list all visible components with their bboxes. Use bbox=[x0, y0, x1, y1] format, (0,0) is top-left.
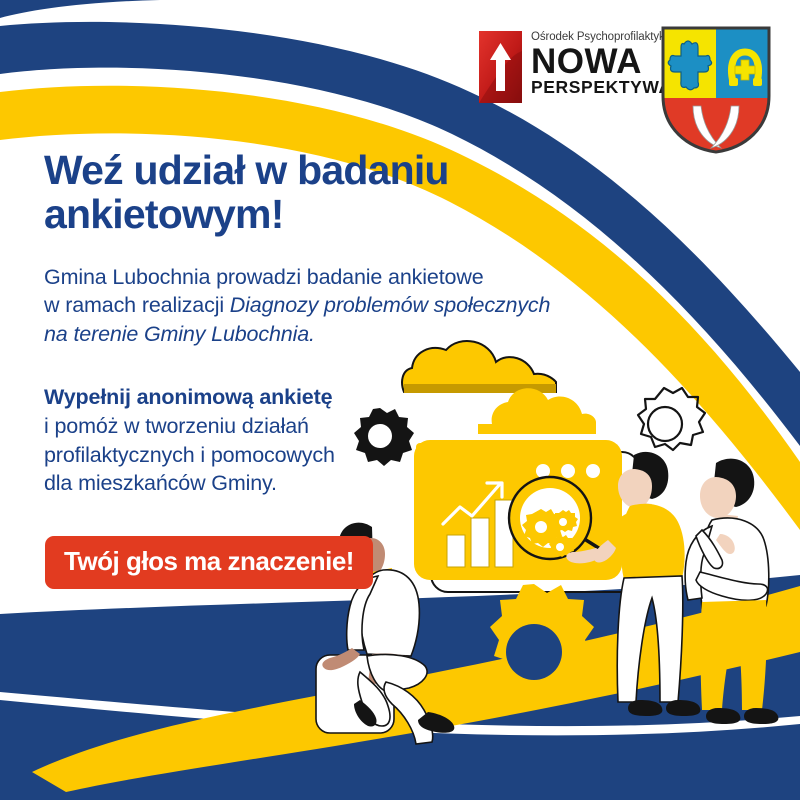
outline-gear-icon bbox=[638, 388, 705, 450]
thinking-person-figure bbox=[685, 459, 778, 724]
status-badge: Twój głos ma znaczenie! bbox=[45, 536, 373, 589]
red-square-up-arrow-icon bbox=[479, 31, 522, 103]
organization-logo: Ośrodek Psychoprofilaktyki NOWA PERSPEKT… bbox=[479, 31, 672, 103]
yellow-solid-gear-icon bbox=[490, 584, 594, 684]
poster-copy: Weź udział w badaniu ankietowym! Gmina L… bbox=[44, 148, 644, 498]
cta-lead: Wypełnij anonimową ankietę bbox=[44, 385, 332, 409]
logo-sub: PERSPEKTYWA bbox=[531, 79, 672, 97]
poster-canvas: Weź udział w badaniu ankietowym! Gmina L… bbox=[0, 0, 800, 800]
cta-body: i pomóż w tworzeniu działań profilaktycz… bbox=[44, 414, 335, 496]
intro-paragraph: Gmina Lubochnia prowadzi badanie ankieto… bbox=[44, 263, 644, 349]
logo-wordmark: Ośrodek Psychoprofilaktyki NOWA PERSPEKT… bbox=[531, 31, 672, 96]
page-title: Weź udział w badaniu ankietowym! bbox=[44, 148, 644, 237]
gmina-lubochnia-coat-of-arms bbox=[659, 24, 773, 156]
call-to-action-paragraph: Wypełnij anonimową ankietęi pomóż w twor… bbox=[44, 383, 644, 498]
logo-main: NOWA bbox=[531, 45, 672, 78]
